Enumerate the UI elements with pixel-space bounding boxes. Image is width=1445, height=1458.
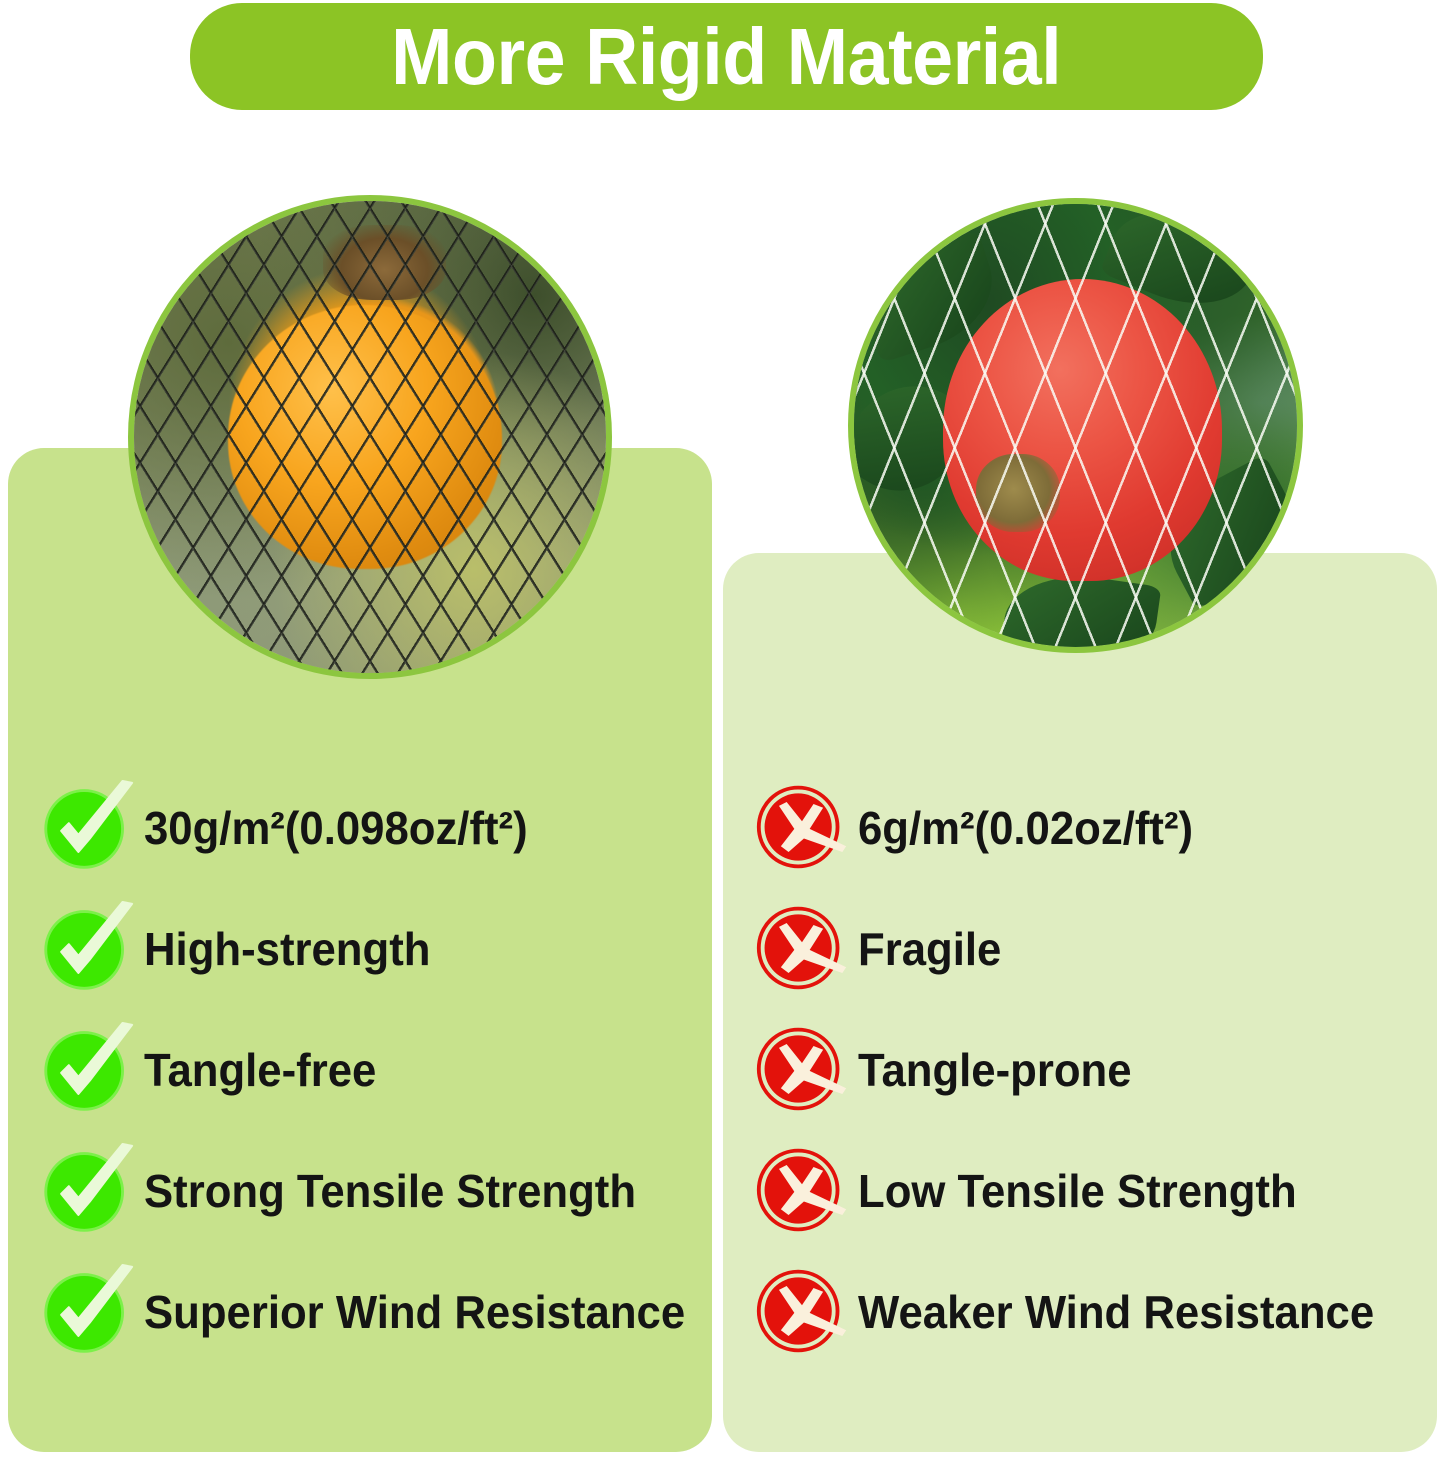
- check-circle-icon: [44, 1269, 130, 1355]
- list-item: Weaker Wind Resistance: [758, 1264, 1438, 1360]
- list-item-label: Tangle-free: [144, 1047, 376, 1093]
- list-item-label: Tangle-prone: [858, 1047, 1132, 1093]
- list-item: Low Tensile Strength: [758, 1143, 1438, 1239]
- check-circle-icon: [44, 1148, 130, 1234]
- cross-circle-icon: [758, 906, 844, 992]
- list-item: Tangle-free: [44, 1022, 714, 1118]
- list-item-label: 6g/m²(0.02oz/ft²): [858, 805, 1193, 851]
- list-item: Tangle-prone: [758, 1022, 1438, 1118]
- right-feature-list: 6g/m²(0.02oz/ft²) Fragile Tangle-prone: [758, 780, 1438, 1385]
- light-net-overlay: [848, 198, 1303, 653]
- list-item: 6g/m²(0.02oz/ft²): [758, 780, 1438, 876]
- cross-circle-icon: [758, 1027, 844, 1113]
- list-item: Superior Wind Resistance: [44, 1264, 714, 1360]
- list-item-label: Low Tensile Strength: [858, 1168, 1297, 1214]
- list-item: Strong Tensile Strength: [44, 1143, 714, 1239]
- check-circle-icon: [44, 1027, 130, 1113]
- list-item: 30g/m²(0.098oz/ft²): [44, 780, 714, 876]
- pomegranate-netting-photo: [848, 198, 1303, 653]
- cross-circle-icon: [758, 1269, 844, 1355]
- list-item-label: 30g/m²(0.098oz/ft²): [144, 805, 528, 851]
- list-item-label: Superior Wind Resistance: [144, 1289, 685, 1335]
- dark-net-highlight-overlay: [128, 195, 612, 679]
- left-feature-list: 30g/m²(0.098oz/ft²) High-strength Tangle…: [44, 780, 714, 1385]
- list-item-label: Strong Tensile Strength: [144, 1168, 636, 1214]
- list-item-label: High-strength: [144, 926, 430, 972]
- check-circle-icon: [44, 785, 130, 871]
- list-item-label: Weaker Wind Resistance: [858, 1289, 1374, 1335]
- orange-fruit-netting-photo: [128, 195, 612, 679]
- list-item: High-strength: [44, 901, 714, 997]
- check-circle-icon: [44, 906, 130, 992]
- cross-circle-icon: [758, 1148, 844, 1234]
- title-banner: More Rigid Material: [190, 3, 1263, 110]
- list-item-label: Fragile: [858, 926, 1001, 972]
- list-item: Fragile: [758, 901, 1438, 997]
- page-title: More Rigid Material: [391, 17, 1061, 97]
- cross-circle-icon: [758, 785, 844, 871]
